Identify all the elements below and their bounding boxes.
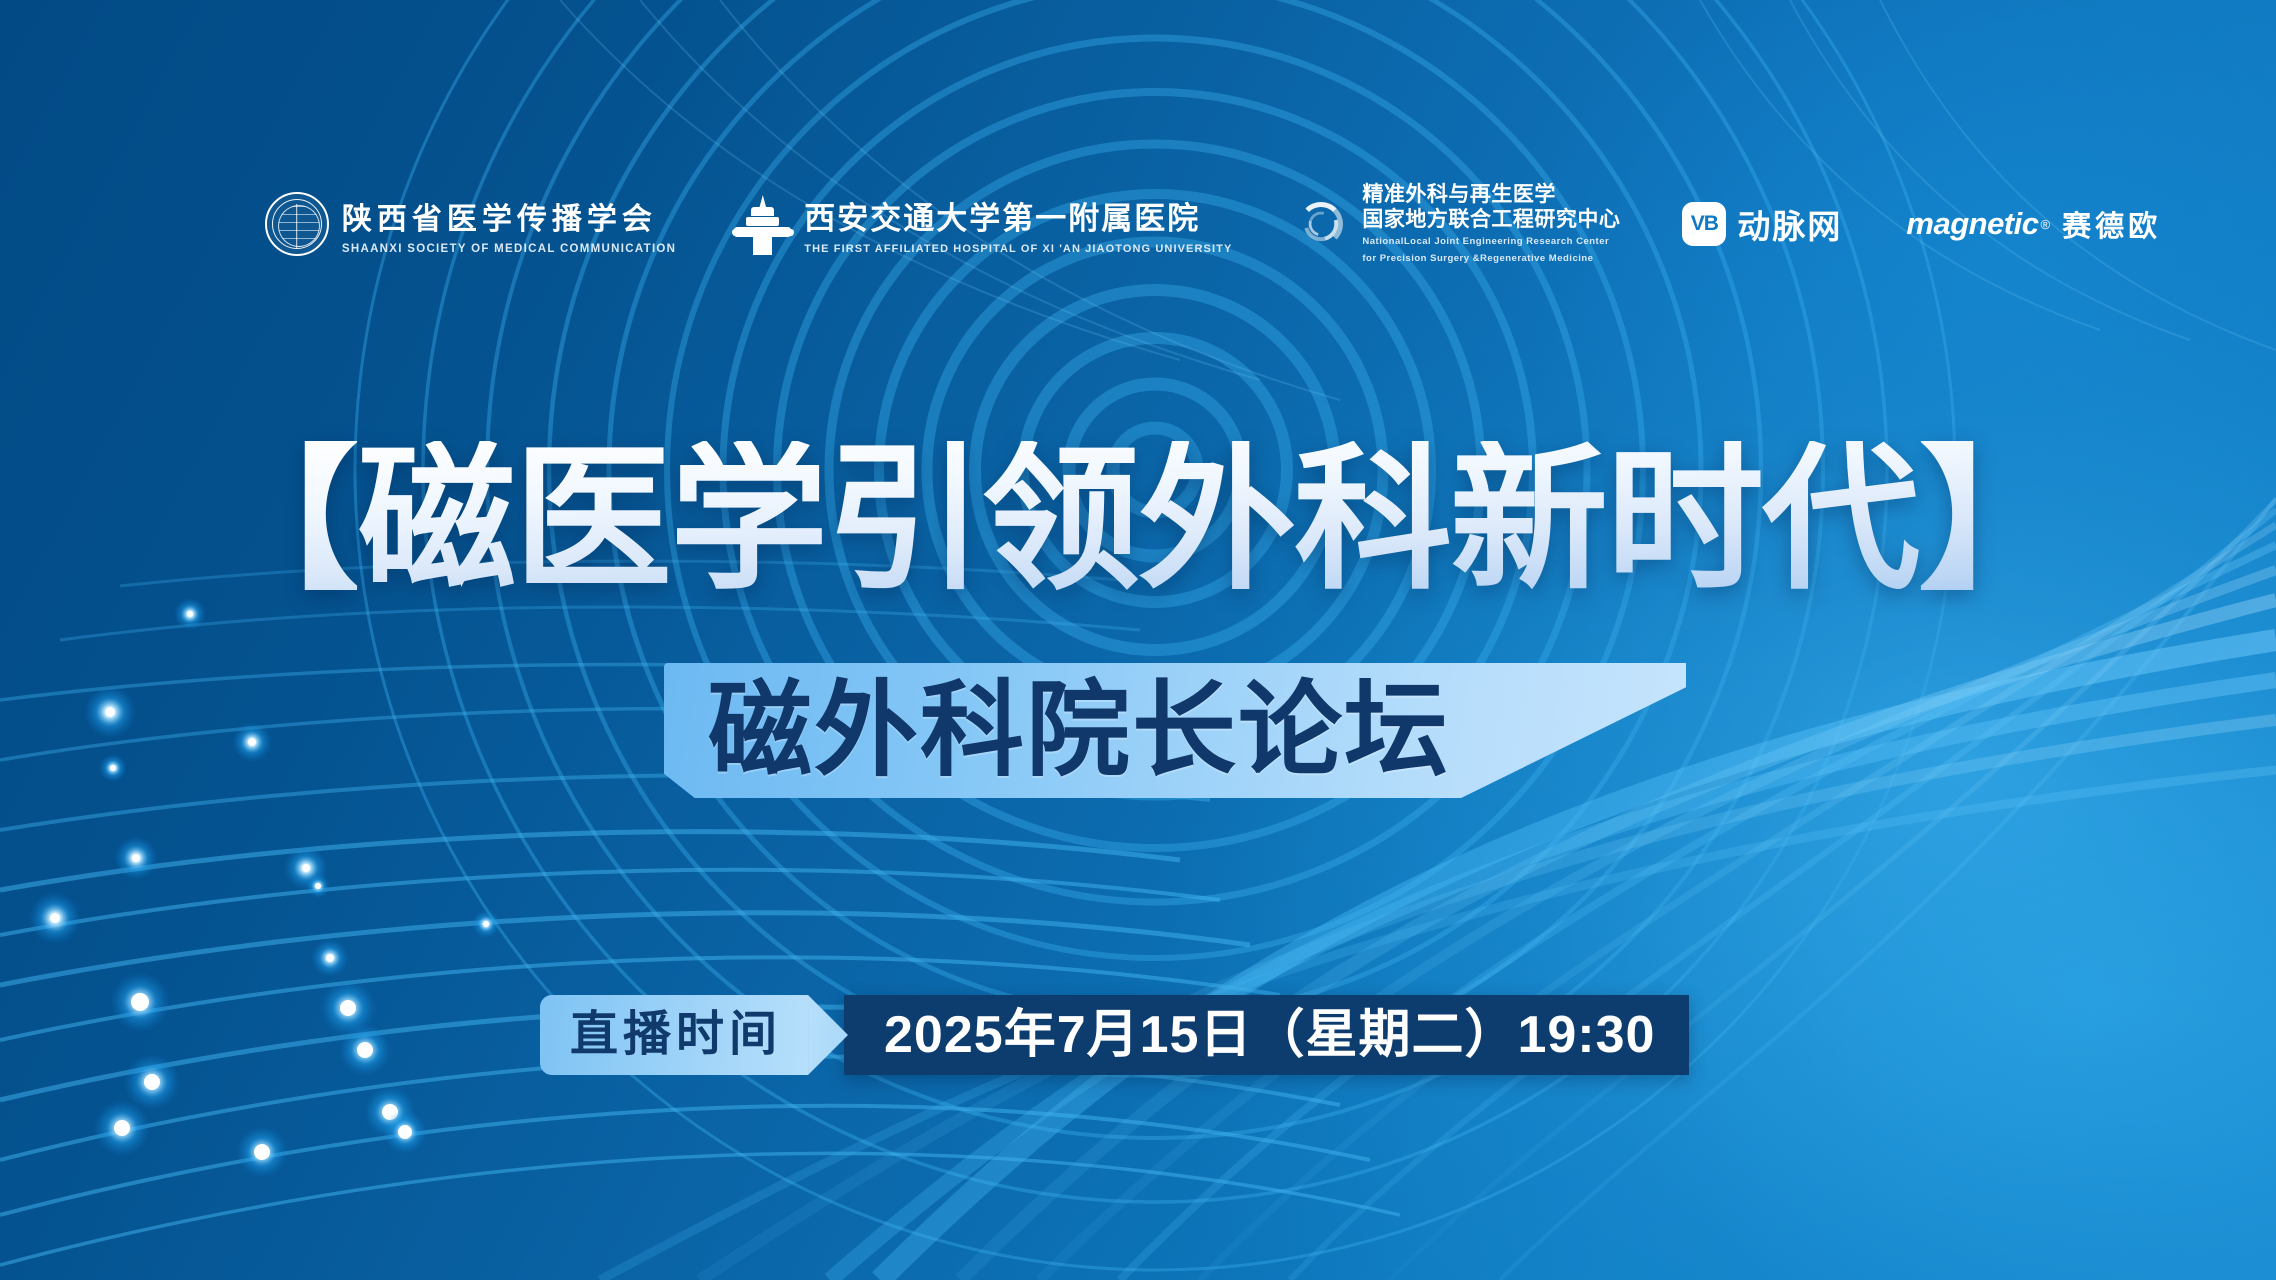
pagoda-icon [732, 193, 804, 255]
logo-shaanxi-society-en: SHAANXI SOCIETY OF MEDICAL COMMUNICATION [342, 243, 676, 255]
logo-nljerc: 精准外科与再生医学 国家地方联合工程研究中心 NationalLocal Joi… [1290, 183, 1620, 265]
logo-xjtu-en: THE FIRST AFFILIATED HOSPITAL OF XI 'AN … [804, 243, 1232, 255]
live-datetime-row: 直播时间 2025年7月15日（星期二）19:30 [540, 995, 1689, 1075]
main-title-container: 【磁医学引领外科新时代】 [0, 420, 2276, 620]
live-time-label-text: 直播时间 [570, 1011, 782, 1059]
registered-trademark-icon: ® [2041, 217, 2051, 232]
logo-nljerc-en-line1: NationalLocal Joint Engineering Research… [1362, 236, 1620, 248]
logo-shaanxi-society-cn: 陕西省医学传播学会 [342, 194, 676, 238]
page-title: 【磁医学引领外科新时代】 [202, 441, 2074, 599]
subtitle-text: 磁外科院长论坛 [708, 679, 1450, 783]
logo-vcbeat-cn: 动脉网 [1737, 200, 1842, 248]
logo-xjtu-first-hospital: 西安交通大学第一附属医院 THE FIRST AFFILIATED HOSPIT… [732, 193, 1232, 255]
logo-magnetic-word: magnetic [1906, 206, 2038, 242]
partner-logo-strip: 陕西省医学传播学会 SHAANXI SOCIETY OF MEDICAL COM… [0, 178, 2276, 270]
logo-nljerc-cn-line2: 国家地方联合工程研究中心 [1362, 208, 1620, 233]
live-time-value: 2025年7月15日（星期二）19:30 [844, 995, 1689, 1075]
event-banner: 陕西省医学传播学会 SHAANXI SOCIETY OF MEDICAL COM… [0, 0, 2276, 1280]
live-time-value-text: 2025年7月15日（星期二）19:30 [884, 1009, 1655, 1061]
logo-magnetic-cn: 赛德欧 [2062, 203, 2161, 245]
logo-magnetic-saideou: magnetic ® 赛德欧 [1906, 203, 2161, 245]
live-time-label: 直播时间 [540, 995, 808, 1075]
vb-badge-icon: VB [1682, 202, 1726, 246]
subtitle-band: 磁外科院长论坛 [664, 663, 1686, 798]
logo-nljerc-en-line2: for Precision Surgery &Regenerative Medi… [1362, 253, 1620, 265]
glow-dots [29, 598, 500, 1178]
logo-xjtu-cn: 西安交通大学第一附属医院 [804, 193, 1232, 238]
swirl-icon [1290, 193, 1362, 255]
globe-seal-icon [265, 192, 342, 256]
logo-vcbeat: VB 动脉网 [1682, 200, 1842, 248]
arrow-right-icon [808, 995, 848, 1075]
logo-nljerc-cn-line1: 精准外科与再生医学 [1362, 183, 1620, 208]
logo-shaanxi-society: 陕西省医学传播学会 SHAANXI SOCIETY OF MEDICAL COM… [265, 192, 676, 256]
